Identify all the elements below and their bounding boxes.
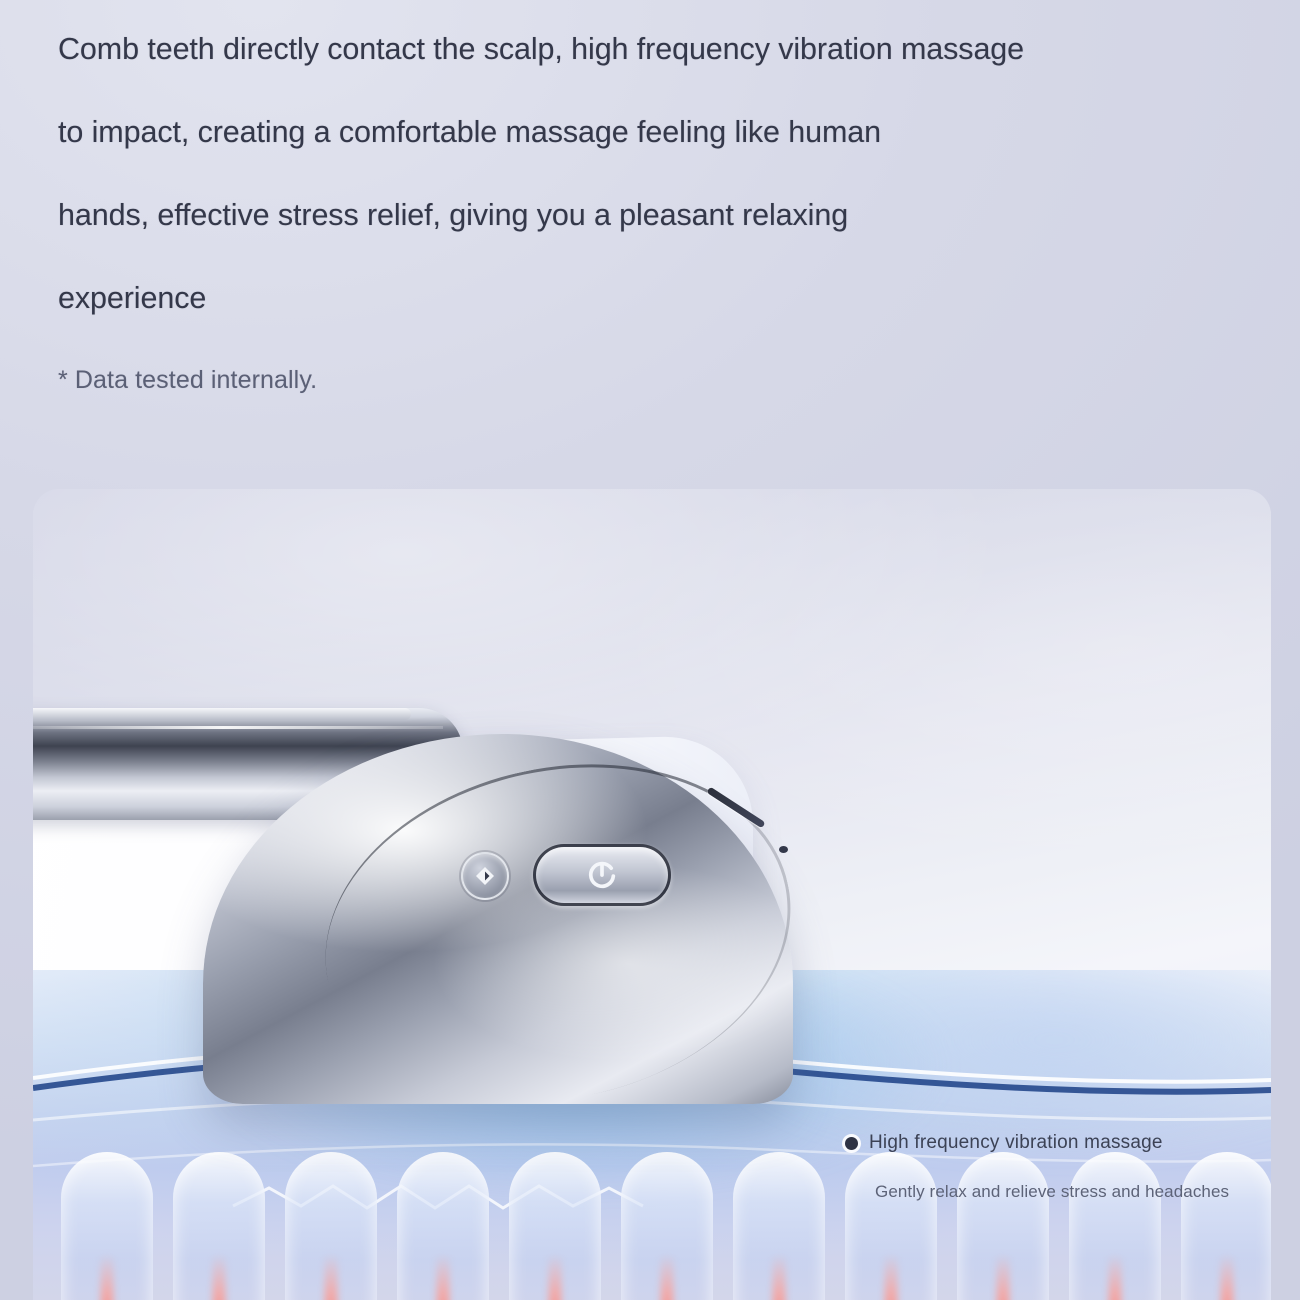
bullet-dot-icon [845,1137,858,1150]
droplet-arrow-icon [473,864,497,888]
header-copy: Comb teeth directly contact the scalp, h… [58,8,1258,395]
power-button[interactable] [533,844,671,906]
headline-line-4: experience [58,257,1258,340]
headline-line-1: Comb teeth directly contact the scalp, h… [58,8,1258,91]
product-showcase-card: High frequency vibration massage Gently … [33,489,1271,1300]
feature-callout-title: High frequency vibration massage [869,1132,1163,1154]
headline-line-3: hands, effective stress relief, giving y… [58,174,1258,257]
power-icon [585,858,619,892]
footnote-text: * Data tested internally. [58,366,1258,395]
headline-line-2: to impact, creating a comfortable massag… [58,91,1258,174]
indicator-button[interactable] [461,852,509,900]
scalp-massager-device [33,694,803,1194]
device-handle-rim [33,708,411,720]
device-vent-dot [779,846,788,853]
feature-callout-subtitle: Gently relax and relieve stress and head… [875,1182,1229,1202]
device-body-seam [294,723,822,1144]
device-handle-seam [33,726,443,729]
feature-callout-heading: High frequency vibration massage [845,1132,1229,1154]
feature-callout: High frequency vibration massage Gently … [845,1132,1229,1202]
product-feature-page: { "header": { "headline_lines": [ "Comb … [0,0,1300,1300]
